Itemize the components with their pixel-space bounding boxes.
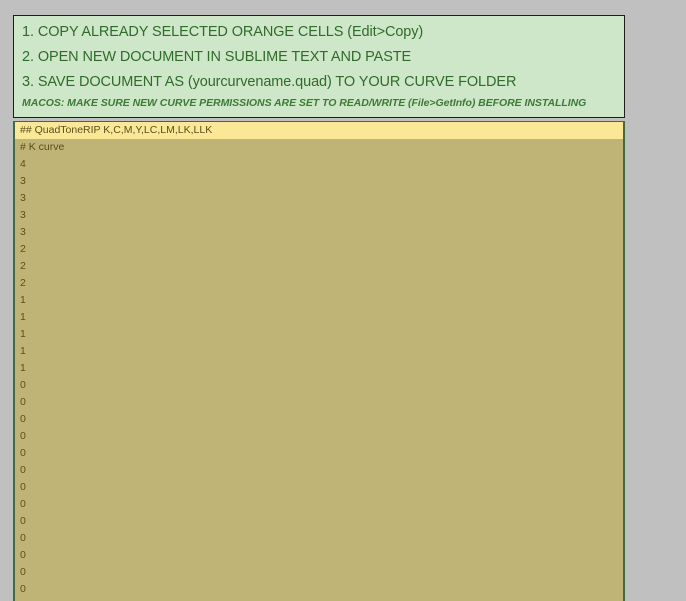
quad-value-row[interactable]: 0 bbox=[15, 377, 623, 394]
instruction-step-3: 3. SAVE DOCUMENT AS (yourcurvename.quad)… bbox=[22, 70, 624, 95]
quad-value-row[interactable]: 0 bbox=[15, 428, 623, 445]
quad-value-row[interactable]: 2 bbox=[15, 258, 623, 275]
quad-value-row[interactable]: 3 bbox=[15, 224, 623, 241]
quad-value-row[interactable]: 0 bbox=[15, 547, 623, 564]
quad-value-row[interactable]: 1 bbox=[15, 343, 623, 360]
quad-value-row[interactable]: 2 bbox=[15, 241, 623, 258]
instructions-panel: 1. COPY ALREADY SELECTED ORANGE CELLS (E… bbox=[13, 15, 625, 118]
quad-value-row[interactable]: 1 bbox=[15, 326, 623, 343]
quad-file-data-panel[interactable]: ## QuadToneRIP K,C,M,Y,LC,LM,LK,LLK # K … bbox=[13, 121, 625, 601]
instruction-macos-note: MACOS: MAKE SURE NEW CURVE PERMISSIONS A… bbox=[22, 95, 624, 112]
quad-value-row[interactable]: 0 bbox=[15, 445, 623, 462]
quad-value-row[interactable]: 2 bbox=[15, 275, 623, 292]
quad-value-row[interactable]: 0 bbox=[15, 411, 623, 428]
quad-value-row[interactable]: 3 bbox=[15, 173, 623, 190]
quad-value-row[interactable]: 0 bbox=[15, 513, 623, 530]
quad-value-row[interactable]: 0 bbox=[15, 479, 623, 496]
instruction-step-1: 1. COPY ALREADY SELECTED ORANGE CELLS (E… bbox=[22, 20, 624, 45]
quad-value-row[interactable]: 0 bbox=[15, 530, 623, 547]
quad-value-row[interactable]: 1 bbox=[15, 309, 623, 326]
quad-value-row[interactable]: 0 bbox=[15, 564, 623, 581]
quad-value-row[interactable]: 0 bbox=[15, 581, 623, 598]
instruction-step-2: 2. OPEN NEW DOCUMENT IN SUBLIME TEXT AND… bbox=[22, 45, 624, 70]
quad-value-row[interactable]: 1 bbox=[15, 360, 623, 377]
screen-root: 1. COPY ALREADY SELECTED ORANGE CELLS (E… bbox=[0, 0, 686, 601]
quad-value-row[interactable]: 4 bbox=[15, 156, 623, 173]
quad-value-row[interactable]: 3 bbox=[15, 207, 623, 224]
quad-value-row[interactable]: 3 bbox=[15, 190, 623, 207]
quad-value-row[interactable]: 0 bbox=[15, 496, 623, 513]
quad-value-rows: 4333322211111000000000000000000000000 bbox=[15, 156, 623, 601]
quad-comment-row[interactable]: # K curve bbox=[15, 139, 623, 156]
quad-value-row[interactable]: 0 bbox=[15, 462, 623, 479]
quad-header-row[interactable]: ## QuadToneRIP K,C,M,Y,LC,LM,LK,LLK bbox=[15, 122, 623, 139]
quad-value-row[interactable]: 0 bbox=[15, 394, 623, 411]
quad-value-row[interactable]: 1 bbox=[15, 292, 623, 309]
